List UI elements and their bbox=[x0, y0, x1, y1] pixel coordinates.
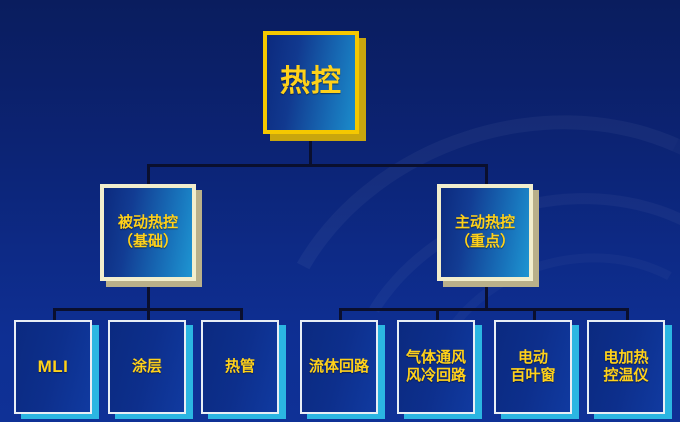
node-mid-passive-body: 被动热控 （基础） bbox=[100, 184, 196, 281]
node-leaf-motor-louver-body: 电动 百叶窗 bbox=[494, 320, 572, 414]
node-root-body: 热控 bbox=[263, 31, 359, 134]
connector-active-bar bbox=[339, 308, 629, 311]
node-leaf-coating-body: 涂层 bbox=[108, 320, 186, 414]
node-leaf-coating[interactable]: 涂层 bbox=[108, 320, 186, 414]
node-leaf-gas-vent-loop-label: 气体通风 风冷回路 bbox=[406, 349, 466, 386]
connector-drop-passive bbox=[147, 164, 150, 185]
slide-canvas: 热控 被动热控 （基础） 主动热控 （重点） MLI 涂层 热管 bbox=[0, 0, 680, 422]
node-leaf-heat-pipe-label: 热管 bbox=[225, 358, 255, 376]
node-leaf-motor-louver-label: 电动 百叶窗 bbox=[510, 349, 555, 386]
node-leaf-mli-body: MLI bbox=[14, 320, 92, 414]
node-mid-passive-thermal-control[interactable]: 被动热控 （基础） bbox=[100, 184, 196, 281]
node-leaf-electric-heat-controller-body: 电加热 控温仪 bbox=[587, 320, 665, 414]
node-leaf-electric-heat-controller-label: 电加热 控温仪 bbox=[603, 349, 648, 386]
node-leaf-heat-pipe-body: 热管 bbox=[201, 320, 279, 414]
node-leaf-gas-vent-loop[interactable]: 气体通风 风冷回路 bbox=[397, 320, 475, 414]
connector-root-bar bbox=[147, 164, 488, 167]
connector-passive-bar bbox=[53, 308, 243, 311]
node-mid-active-body: 主动热控 （重点） bbox=[437, 184, 533, 281]
node-leaf-fluid-loop-body: 流体回路 bbox=[300, 320, 378, 414]
node-leaf-electric-heat-controller[interactable]: 电加热 控温仪 bbox=[587, 320, 665, 414]
node-leaf-fluid-loop[interactable]: 流体回路 bbox=[300, 320, 378, 414]
node-leaf-motor-louver[interactable]: 电动 百叶窗 bbox=[494, 320, 572, 414]
connector-drop-active bbox=[485, 164, 488, 185]
node-root-label: 热控 bbox=[280, 64, 342, 101]
node-leaf-fluid-loop-label: 流体回路 bbox=[309, 358, 369, 376]
node-leaf-mli[interactable]: MLI bbox=[14, 320, 92, 414]
node-leaf-mli-label: MLI bbox=[38, 357, 69, 378]
node-leaf-coating-label: 涂层 bbox=[132, 358, 162, 376]
node-root-thermal-control[interactable]: 热控 bbox=[263, 31, 359, 134]
node-mid-active-label: 主动热控 （重点） bbox=[455, 214, 515, 251]
node-leaf-heat-pipe[interactable]: 热管 bbox=[201, 320, 279, 414]
node-mid-passive-label: 被动热控 （基础） bbox=[118, 214, 178, 251]
node-mid-active-thermal-control[interactable]: 主动热控 （重点） bbox=[437, 184, 533, 281]
node-leaf-gas-vent-loop-body: 气体通风 风冷回路 bbox=[397, 320, 475, 414]
